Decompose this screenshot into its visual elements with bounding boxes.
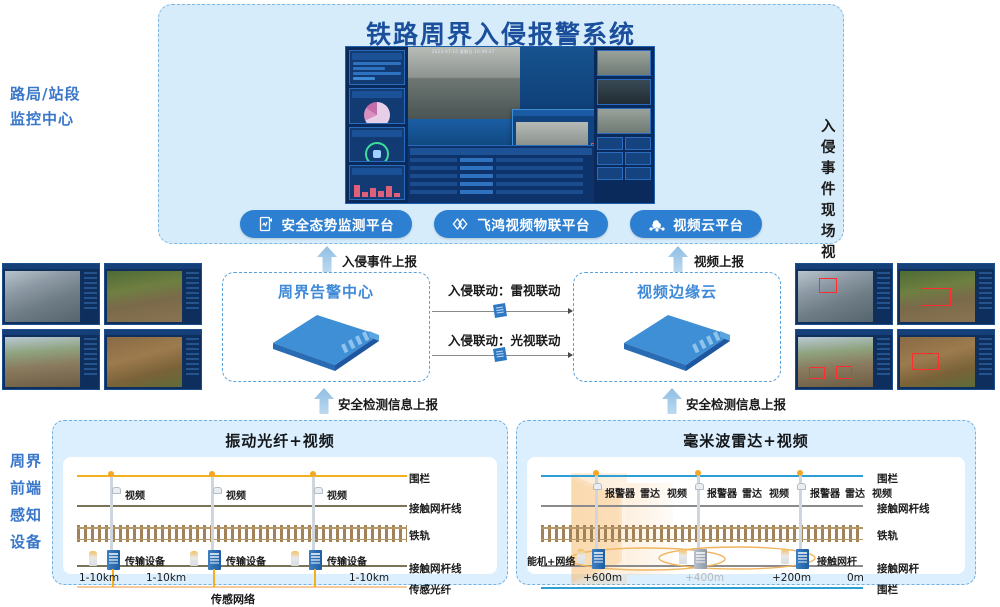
alarm-device-icon (593, 483, 602, 490)
device-label: 传输设备 (226, 553, 266, 568)
arrow-video-report (666, 246, 690, 272)
station-label-video: 视频 (769, 485, 789, 500)
pole-top-lamp (209, 471, 215, 477)
alarm-device-icon (797, 483, 806, 490)
mmwave-radar-title: 毫米波雷达+视频 (517, 430, 975, 451)
side-label-line2: 监控中心 (10, 107, 80, 132)
pole-top-lamp (695, 470, 701, 476)
camera-icon (314, 487, 323, 494)
legend-catenary-pole: 接触网杆 (877, 564, 919, 576)
thumbnail-item[interactable] (104, 263, 202, 325)
vibration-fiber-title: 振动光纤+视频 (53, 430, 507, 451)
link-label-radar-video: 入侵联动：雷视联动 (448, 280, 561, 299)
dashboard-bar-card (349, 165, 405, 200)
distance-label: 0m (847, 572, 864, 584)
dashboard-pie-card (349, 88, 405, 123)
node-label-video: 视频 (327, 487, 347, 502)
thumbnail-item[interactable] (897, 329, 995, 391)
station-label-radar: 雷达 (845, 485, 865, 500)
alarm-detail-popup (512, 109, 594, 145)
legend-fence-top: 围栏 (877, 474, 898, 486)
dashboard-gauge-card (349, 127, 405, 162)
platform-label: 飞鸿视频物联平台 (477, 214, 590, 234)
bollard-icon (89, 551, 97, 566)
side-label-bline4: 设备 (10, 529, 42, 556)
perimeter-alarm-center-title: 周界告警中心 (223, 281, 429, 302)
server-icon (267, 305, 385, 379)
thumbnail-item[interactable] (795, 329, 893, 391)
server-icon (618, 305, 736, 379)
platform-button-security-situation[interactable]: 安全态势监测平台 (240, 210, 412, 238)
side-label-bline1: 周界 (10, 448, 42, 475)
link-diamond-icon (452, 216, 470, 232)
dashboard-left-column (346, 47, 408, 203)
station-label-radar: 雷达 (640, 485, 660, 500)
transmission-cabinet (208, 550, 221, 570)
vibration-fiber-panel: 振动光纤+视频 视频 视频 视频 传输设备 (52, 420, 508, 585)
cloud-node-icon (648, 216, 666, 232)
label-safety-report-right: 安全检测信息上报 (686, 394, 786, 413)
switch-icon-2 (490, 345, 510, 369)
distance-label: +600m (583, 572, 622, 584)
thumbnail-item[interactable] (2, 263, 100, 325)
side-label-perimeter-devices: 周界 前端 感知 设备 (10, 448, 42, 556)
legend-rail: 铁轨 (877, 531, 898, 543)
bollard-icon (781, 549, 789, 564)
distance-label: +400m (685, 572, 724, 584)
side-label-bline3: 感知 (10, 502, 42, 529)
label-safety-report-left: 安全检测信息上报 (338, 394, 438, 413)
line-fence-top (541, 475, 863, 477)
device-label: 传输设备 (327, 553, 367, 568)
side-label-bline2: 前端 (10, 475, 42, 502)
dashboard-screenshot: 2023-07-10 星期日 10:46:27 (345, 46, 655, 204)
bollard-icon (190, 551, 198, 566)
switch-icon-1 (490, 301, 510, 325)
pole-top-lamp (593, 470, 599, 476)
legend-catenary-top: 接触网杆线 (409, 504, 462, 516)
video-timestamp: 2023-07-10 星期日 10:46:27 (432, 49, 495, 55)
vibration-fiber-canvas: 视频 视频 视频 传输设备 传输设备 传输设备 1-10km 1-10km 1-… (63, 457, 497, 574)
line-catenary-top (541, 505, 863, 507)
video-edge-cloud-box: 视频边缘云 (573, 272, 781, 382)
sensing-network-label: 传感网络 (211, 591, 255, 607)
platform-label: 安全态势监测平台 (281, 214, 394, 234)
gauge-ring (365, 142, 389, 162)
node-label-video: 视频 (226, 487, 246, 502)
detection-box (912, 353, 939, 370)
document-chart-icon (258, 216, 274, 232)
rail-track (77, 525, 407, 542)
transmission-cabinet (107, 550, 120, 570)
line-catenary-top (77, 505, 407, 507)
dashboard-thumb-grid (597, 137, 651, 180)
thumbnail-grid-right (795, 263, 995, 390)
alarm-device-icon (695, 483, 704, 490)
station-label-alarm: 报警器 (810, 485, 840, 500)
detection-box (809, 367, 826, 379)
camera-icon (112, 487, 121, 494)
legend-catenary-line: 接触网杆线 (877, 504, 930, 516)
pole-top-lamp (797, 470, 803, 476)
legend-catenary-bottom: 接触网杆线 (409, 564, 462, 576)
thumbnail-item[interactable] (2, 329, 100, 391)
device-label: 传输设备 (125, 553, 165, 568)
arrow-intrusion-report (315, 246, 339, 272)
pie-chart (364, 102, 390, 123)
pole-top-lamp (108, 471, 114, 477)
dashboard-thumb-2 (597, 79, 651, 105)
distance-label: 1-10km (349, 572, 389, 584)
mmwave-radar-panel: 毫米波雷达+视频 报警器 (516, 420, 976, 585)
link-arrowhead-2 (568, 352, 573, 358)
bollard-icon (291, 551, 299, 566)
arrow-safety-report-left (312, 388, 336, 414)
legend-rail: 铁轨 (409, 531, 430, 543)
dashboard-right-column (594, 47, 654, 203)
line-sensing-fiber (77, 586, 407, 588)
detection-box (819, 278, 837, 293)
rail-track (541, 525, 863, 542)
side-label-control-center: 路局/站段 监控中心 (10, 82, 80, 132)
platform-label: 视频云平台 (673, 214, 744, 234)
distance-label: 1-10km (146, 572, 186, 584)
bollard-icon (577, 549, 585, 564)
line-fence-bottom (541, 587, 863, 589)
distance-label: +200m (772, 572, 811, 584)
distance-tick (213, 569, 215, 587)
distance-label: 1-10km (79, 572, 119, 584)
platform-button-video-cloud[interactable]: 视频云平台 (630, 210, 762, 238)
bollard-icon (679, 549, 687, 564)
bar-chart (350, 177, 404, 197)
dashboard-center-column: 2023-07-10 星期日 10:46:27 (408, 47, 594, 203)
camera-icon (213, 487, 222, 494)
legend-fence: 围栏 (409, 474, 430, 486)
side-label-line1: 路局/站段 (10, 82, 80, 107)
right-edge-label: 接触网杆 (817, 553, 857, 568)
detection-box (921, 288, 951, 306)
label-intrusion-report: 入侵事件上报 (342, 251, 417, 270)
video-edge-cloud-title: 视频边缘云 (574, 281, 780, 302)
distance-tick (314, 569, 316, 587)
arrow-safety-report-right (660, 388, 684, 414)
station-label-alarm: 报警器 (605, 485, 635, 500)
station-label-video: 视频 (872, 485, 892, 500)
thumbnail-item[interactable] (795, 263, 893, 325)
alarm-table (408, 145, 594, 203)
radar-cabinet (694, 549, 707, 569)
thumbnail-item[interactable] (897, 263, 995, 325)
perimeter-alarm-center-box: 周界告警中心 (222, 272, 430, 382)
thumbnail-item[interactable] (104, 329, 202, 391)
station-label-radar: 雷达 (742, 485, 762, 500)
radar-cabinet (796, 549, 809, 569)
detection-box (836, 366, 853, 379)
platform-pill-row: 安全态势监测平台 飞鸿视频物联平台 视频云平台 (158, 210, 844, 238)
radar-cabinet (592, 549, 605, 569)
label-video-report: 视频上报 (694, 251, 744, 270)
mmwave-radar-canvas: 报警器 雷达 视频 报警器 雷达 视频 报警器 雷达 视频 能机+网络 (527, 457, 965, 574)
dashboard-thumb-1 (597, 50, 651, 76)
transmission-cabinet (309, 550, 322, 570)
node-label-video: 视频 (125, 487, 145, 502)
link-arrowhead-1 (568, 308, 573, 314)
left-edge-label: 能机+网络 (527, 553, 575, 568)
platform-button-feihong-video-iot[interactable]: 飞鸿视频物联平台 (434, 210, 608, 238)
diagram-canvas: 路局/站段 监控中心 周界 前端 感知 设备 铁路周界入侵报警系统 入侵事件告警… (0, 0, 1000, 591)
thumbnail-grid-left (2, 263, 202, 390)
station-label-alarm: 报警器 (707, 485, 737, 500)
pole-top-lamp (310, 471, 316, 477)
dashboard-stats-card (349, 50, 405, 85)
line-fence (77, 475, 407, 477)
dashboard-thumb-3 (597, 108, 651, 134)
dashboard-main-video: 2023-07-10 星期日 10:46:27 (408, 47, 594, 145)
station-label-video: 视频 (667, 485, 687, 500)
